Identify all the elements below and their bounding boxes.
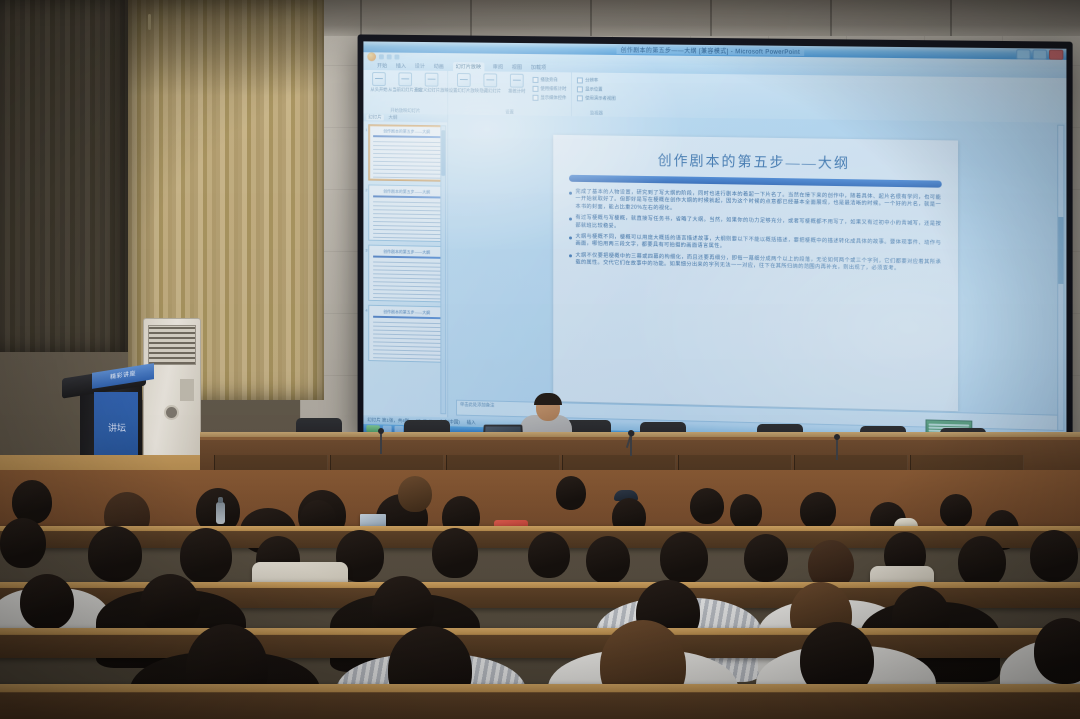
thumbnail-number: 1 <box>365 127 367 132</box>
curtain-shadow <box>128 0 324 96</box>
slide-editing-pane[interactable]: 创作剧本的第五步——大纲 完成了基本的人物设置，研究到了写大纲的阶段，同时也进行… <box>448 115 1066 434</box>
thumbnail-accent-bar <box>373 135 440 138</box>
audience-head <box>586 536 630 584</box>
scrollbar-thumb[interactable] <box>441 130 445 176</box>
audience-head <box>660 532 708 584</box>
thumbnail-title: 创作剧本的第五步——大纲 <box>372 188 441 194</box>
slide-bullet-text: 完成了基本的人物设置，研究到了写大纲的阶段，同时也进行剧本的着起一下片名了。当然… <box>575 189 941 217</box>
slide-thumbnail-pane[interactable]: 幻灯片 大纲 1 创作剧本的第五步——大纲 2 <box>363 113 448 417</box>
ribbon-group-monitors: 分辨率 显示位置 使用演示者视图 <box>572 72 620 116</box>
ribbon-tab-insert[interactable]: 插入 <box>396 62 406 69</box>
table-microphone <box>836 438 838 460</box>
play-from-start-icon[interactable] <box>372 72 386 86</box>
ribbon-tab-review[interactable]: 审阅 <box>493 64 503 71</box>
slide-accent-bar <box>569 175 942 188</box>
audience-head <box>20 574 74 630</box>
slide-bullet-text: 大纲与梗概不同，梗概可以用庞大概括的语言描述故事，大纲则要以下不能以概括描述，要… <box>575 234 941 256</box>
ceiling-band <box>300 0 1080 36</box>
water-bottle <box>216 502 225 524</box>
curtain-hook <box>148 14 151 30</box>
option-resolution[interactable]: 分辨率 <box>577 77 615 83</box>
slide-pane-scrollbar[interactable] <box>1057 125 1064 431</box>
bullet-icon <box>569 255 572 258</box>
hide-slide-icon[interactable] <box>483 73 497 87</box>
audience-head <box>556 476 586 510</box>
podium-logo: 讲坛 <box>106 424 128 452</box>
monitor-options-group[interactable]: 分辨率 显示位置 使用演示者视图 <box>577 74 615 101</box>
thumbnail-number: 3 <box>365 248 367 253</box>
checkbox-icon[interactable] <box>533 77 539 83</box>
audience-head <box>730 494 762 530</box>
ribbon-tab-animation[interactable]: 动画 <box>434 63 444 70</box>
minimize-icon[interactable] <box>1016 49 1030 59</box>
audience-head <box>940 494 972 528</box>
tab-slides[interactable]: 幻灯片 <box>366 114 383 120</box>
audience-head <box>180 528 232 584</box>
desk-row <box>0 628 1080 658</box>
ac-knob <box>166 407 177 418</box>
checkbox-show-media-controls[interactable]: 显示媒体控件 <box>533 95 567 101</box>
window-title: 创作剧本的第五步——大纲 [兼容模式] - Microsoft PowerPoi… <box>617 45 805 56</box>
option-display-on-label: 显示位置 <box>585 86 602 92</box>
projection-screen: 创作剧本的第五步——大纲 [兼容模式] - Microsoft PowerPoi… <box>358 34 1073 457</box>
button-custom-show-label: 自定义幻灯片放映 <box>414 87 448 92</box>
thumbnail-list[interactable]: 1 创作剧本的第五步——大纲 2 创作剧本的第五步——大纲 <box>363 121 447 417</box>
slide-bullet: 完成了基本的人物设置，研究到了写大纲的阶段，同时也进行剧本的着起一下片名了。当然… <box>569 189 942 217</box>
dark-curtain <box>0 0 128 352</box>
checkbox-icon[interactable] <box>533 86 539 92</box>
checkbox-use-timings[interactable]: 使用排练计时 <box>533 86 567 92</box>
button-from-beginning[interactable]: 从头开始 <box>368 72 389 92</box>
bullet-icon <box>569 191 572 194</box>
thumbnail-slide-2[interactable]: 2 创作剧本的第五步——大纲 <box>368 184 445 242</box>
scrollbar-thumb[interactable] <box>1058 217 1063 284</box>
ribbon-tab-view[interactable]: 视图 <box>512 64 522 71</box>
option-display-on[interactable]: 显示位置 <box>577 86 615 92</box>
ribbon-tab-slideshow[interactable]: 幻灯片放映 <box>453 62 484 71</box>
maximize-icon[interactable] <box>1033 49 1047 59</box>
audience-head <box>0 518 46 568</box>
undo-icon[interactable] <box>387 54 392 59</box>
audience-head <box>528 532 570 578</box>
thumbnail-scrollbar[interactable] <box>440 125 446 414</box>
office-orb-icon[interactable] <box>367 52 376 61</box>
projected-image: 创作剧本的第五步——大纲 [兼容模式] - Microsoft PowerPoi… <box>363 41 1066 451</box>
ribbon-tab-addins[interactable]: 加载项 <box>531 64 546 71</box>
status-slide-count: 幻灯片 第1张，共4张 <box>367 417 409 424</box>
button-custom-show[interactable]: 自定义幻灯片放映 <box>421 73 442 93</box>
thumbnail-body-lines <box>373 260 440 300</box>
ac-display <box>180 379 194 401</box>
play-from-current-icon[interactable] <box>398 72 412 86</box>
thumbnail-slide-3[interactable]: 3 创作剧本的第五步——大纲 <box>368 245 445 303</box>
checkbox-use-timings-label: 使用排练计时 <box>540 86 566 92</box>
slide-bullet-text: 大纲不仅要把梗概中的三幕或四幕的构细化，而且还要再细分，即每一幕细分成两个以上的… <box>575 252 941 274</box>
current-slide[interactable]: 创作剧本的第五步——大纲 完成了基本的人物设置，研究到了写大纲的阶段，同时也进行… <box>553 135 958 411</box>
audience-head <box>690 488 724 524</box>
thumbnail-slide-1[interactable]: 1 创作剧本的第五步——大纲 <box>368 124 445 181</box>
slide-bullet-text: 有过写梗概与写梗概，就直接写任务书，省略了大纲。当然，如果你的功力足够充分，或者… <box>575 215 941 236</box>
powerpoint-window[interactable]: 创作剧本的第五步——大纲 [兼容模式] - Microsoft PowerPoi… <box>363 41 1066 451</box>
button-rehearse-timings[interactable]: 排练计时 <box>506 74 528 94</box>
ribbon-group-start-show: 从头开始 从当前幻灯片开始 自定义幻灯片放映 开始放映幻灯片 <box>363 70 448 115</box>
button-from-beginning-label: 从头开始 <box>370 87 387 92</box>
checkbox-icon[interactable] <box>533 95 539 101</box>
audience-area <box>0 470 1080 719</box>
audience-head <box>398 476 432 512</box>
slide-bullet: 有过写梗概与写梗概，就直接写任务书，省略了大纲。当然，如果你的功力足够充分，或者… <box>569 215 942 236</box>
custom-show-icon[interactable] <box>425 73 439 87</box>
thumbnail-title: 创作剧本的第五步——大纲 <box>372 249 441 255</box>
ribbon-tab-start[interactable]: 开始 <box>377 62 387 69</box>
setup-show-icon[interactable] <box>457 73 471 87</box>
checkbox-play-narration[interactable]: 播放旁白 <box>533 77 567 83</box>
slide-body[interactable]: 完成了基本的人物设置，研究到了写大纲的阶段，同时也进行剧本的着起一下片名了。当然… <box>569 189 942 274</box>
bullet-icon <box>569 217 572 220</box>
thumbnail-body-lines <box>373 320 440 360</box>
thumbnail-slide-4[interactable]: 4 创作剧本的第五步——大纲 <box>368 305 445 363</box>
slide-bullet: 大纲与梗概不同，梗概可以用庞大概括的语言描述故事，大纲则要以下不能以概括描述，要… <box>569 233 942 255</box>
thumbnail-accent-bar <box>373 316 440 319</box>
dropdown-icon[interactable] <box>577 86 583 92</box>
setup-checkbox-group[interactable]: 播放旁白 使用排练计时 显示媒体控件 <box>533 74 567 101</box>
ac-vent-icon <box>148 325 196 365</box>
option-resolution-label: 分辨率 <box>585 78 598 84</box>
checkbox-icon[interactable] <box>577 95 583 101</box>
thumbnail-body-lines <box>373 139 440 179</box>
bullet-icon <box>569 236 572 239</box>
checkbox-play-narration-label: 播放旁白 <box>540 77 557 83</box>
button-hide-slide[interactable]: 隐藏幻灯片 <box>480 73 502 93</box>
table-microphone <box>380 432 382 454</box>
audience-head <box>744 534 788 582</box>
thumbnail-number: 2 <box>365 187 367 192</box>
thumbnail-accent-bar <box>373 195 440 198</box>
thumbnail-body-lines <box>373 199 440 239</box>
save-icon[interactable] <box>379 54 384 59</box>
thumbnail-number: 4 <box>365 308 367 313</box>
thumbnail-title: 创作剧本的第五步——大纲 <box>372 309 441 315</box>
ribbon-group-setup: 设置幻灯片放映 隐藏幻灯片 排练计时 <box>448 71 572 116</box>
checkbox-show-media-controls-label: 显示媒体控件 <box>540 95 566 101</box>
editor-work-area: 幻灯片 大纲 1 创作剧本的第五步——大纲 2 <box>363 113 1066 433</box>
audience-head <box>800 492 836 530</box>
audience-head <box>432 528 478 578</box>
window-controls[interactable] <box>1016 49 1063 60</box>
thumbnail-title: 创作剧本的第五步——大纲 <box>372 128 441 134</box>
redo-icon[interactable] <box>395 55 400 60</box>
button-hide-slide-label: 隐藏幻灯片 <box>480 88 502 93</box>
close-icon[interactable] <box>1049 50 1063 60</box>
audience-head <box>88 526 142 582</box>
audience-head <box>1030 530 1078 582</box>
tab-outline[interactable]: 大纲 <box>388 115 397 121</box>
desk-row <box>0 684 1080 719</box>
audience-head <box>140 574 200 636</box>
rehearse-timings-icon[interactable] <box>510 74 524 88</box>
button-rehearse-timings-label: 排练计时 <box>508 89 525 94</box>
dropdown-icon[interactable] <box>577 77 583 83</box>
status-insert-mode: 插入 <box>467 419 476 425</box>
slide-title: 创作剧本的第五步——大纲 <box>569 149 942 175</box>
slide-bullet: 大纲不仅要把梗概中的三幕或四幕的构细化，而且还要再细分，即每一幕细分成两个以上的… <box>569 252 942 274</box>
audience-head <box>958 536 1006 588</box>
ribbon-tab-design[interactable]: 设计 <box>415 63 425 70</box>
button-setup-show-label: 设置幻灯片放映 <box>449 88 479 93</box>
checkbox-presenter-view[interactable]: 使用演示者视图 <box>577 95 615 101</box>
thumbnail-accent-bar <box>373 256 440 259</box>
button-from-current[interactable]: 从当前幻灯片开始 <box>395 72 416 92</box>
checkbox-presenter-view-label: 使用演示者视图 <box>585 95 615 101</box>
lecture-hall-photo: 讲坛 精彩讲座 创作剧本的第五步——大纲 [兼容模式] - Microsoft … <box>0 0 1080 719</box>
button-setup-show[interactable]: 设置幻灯片放映 <box>453 73 475 93</box>
